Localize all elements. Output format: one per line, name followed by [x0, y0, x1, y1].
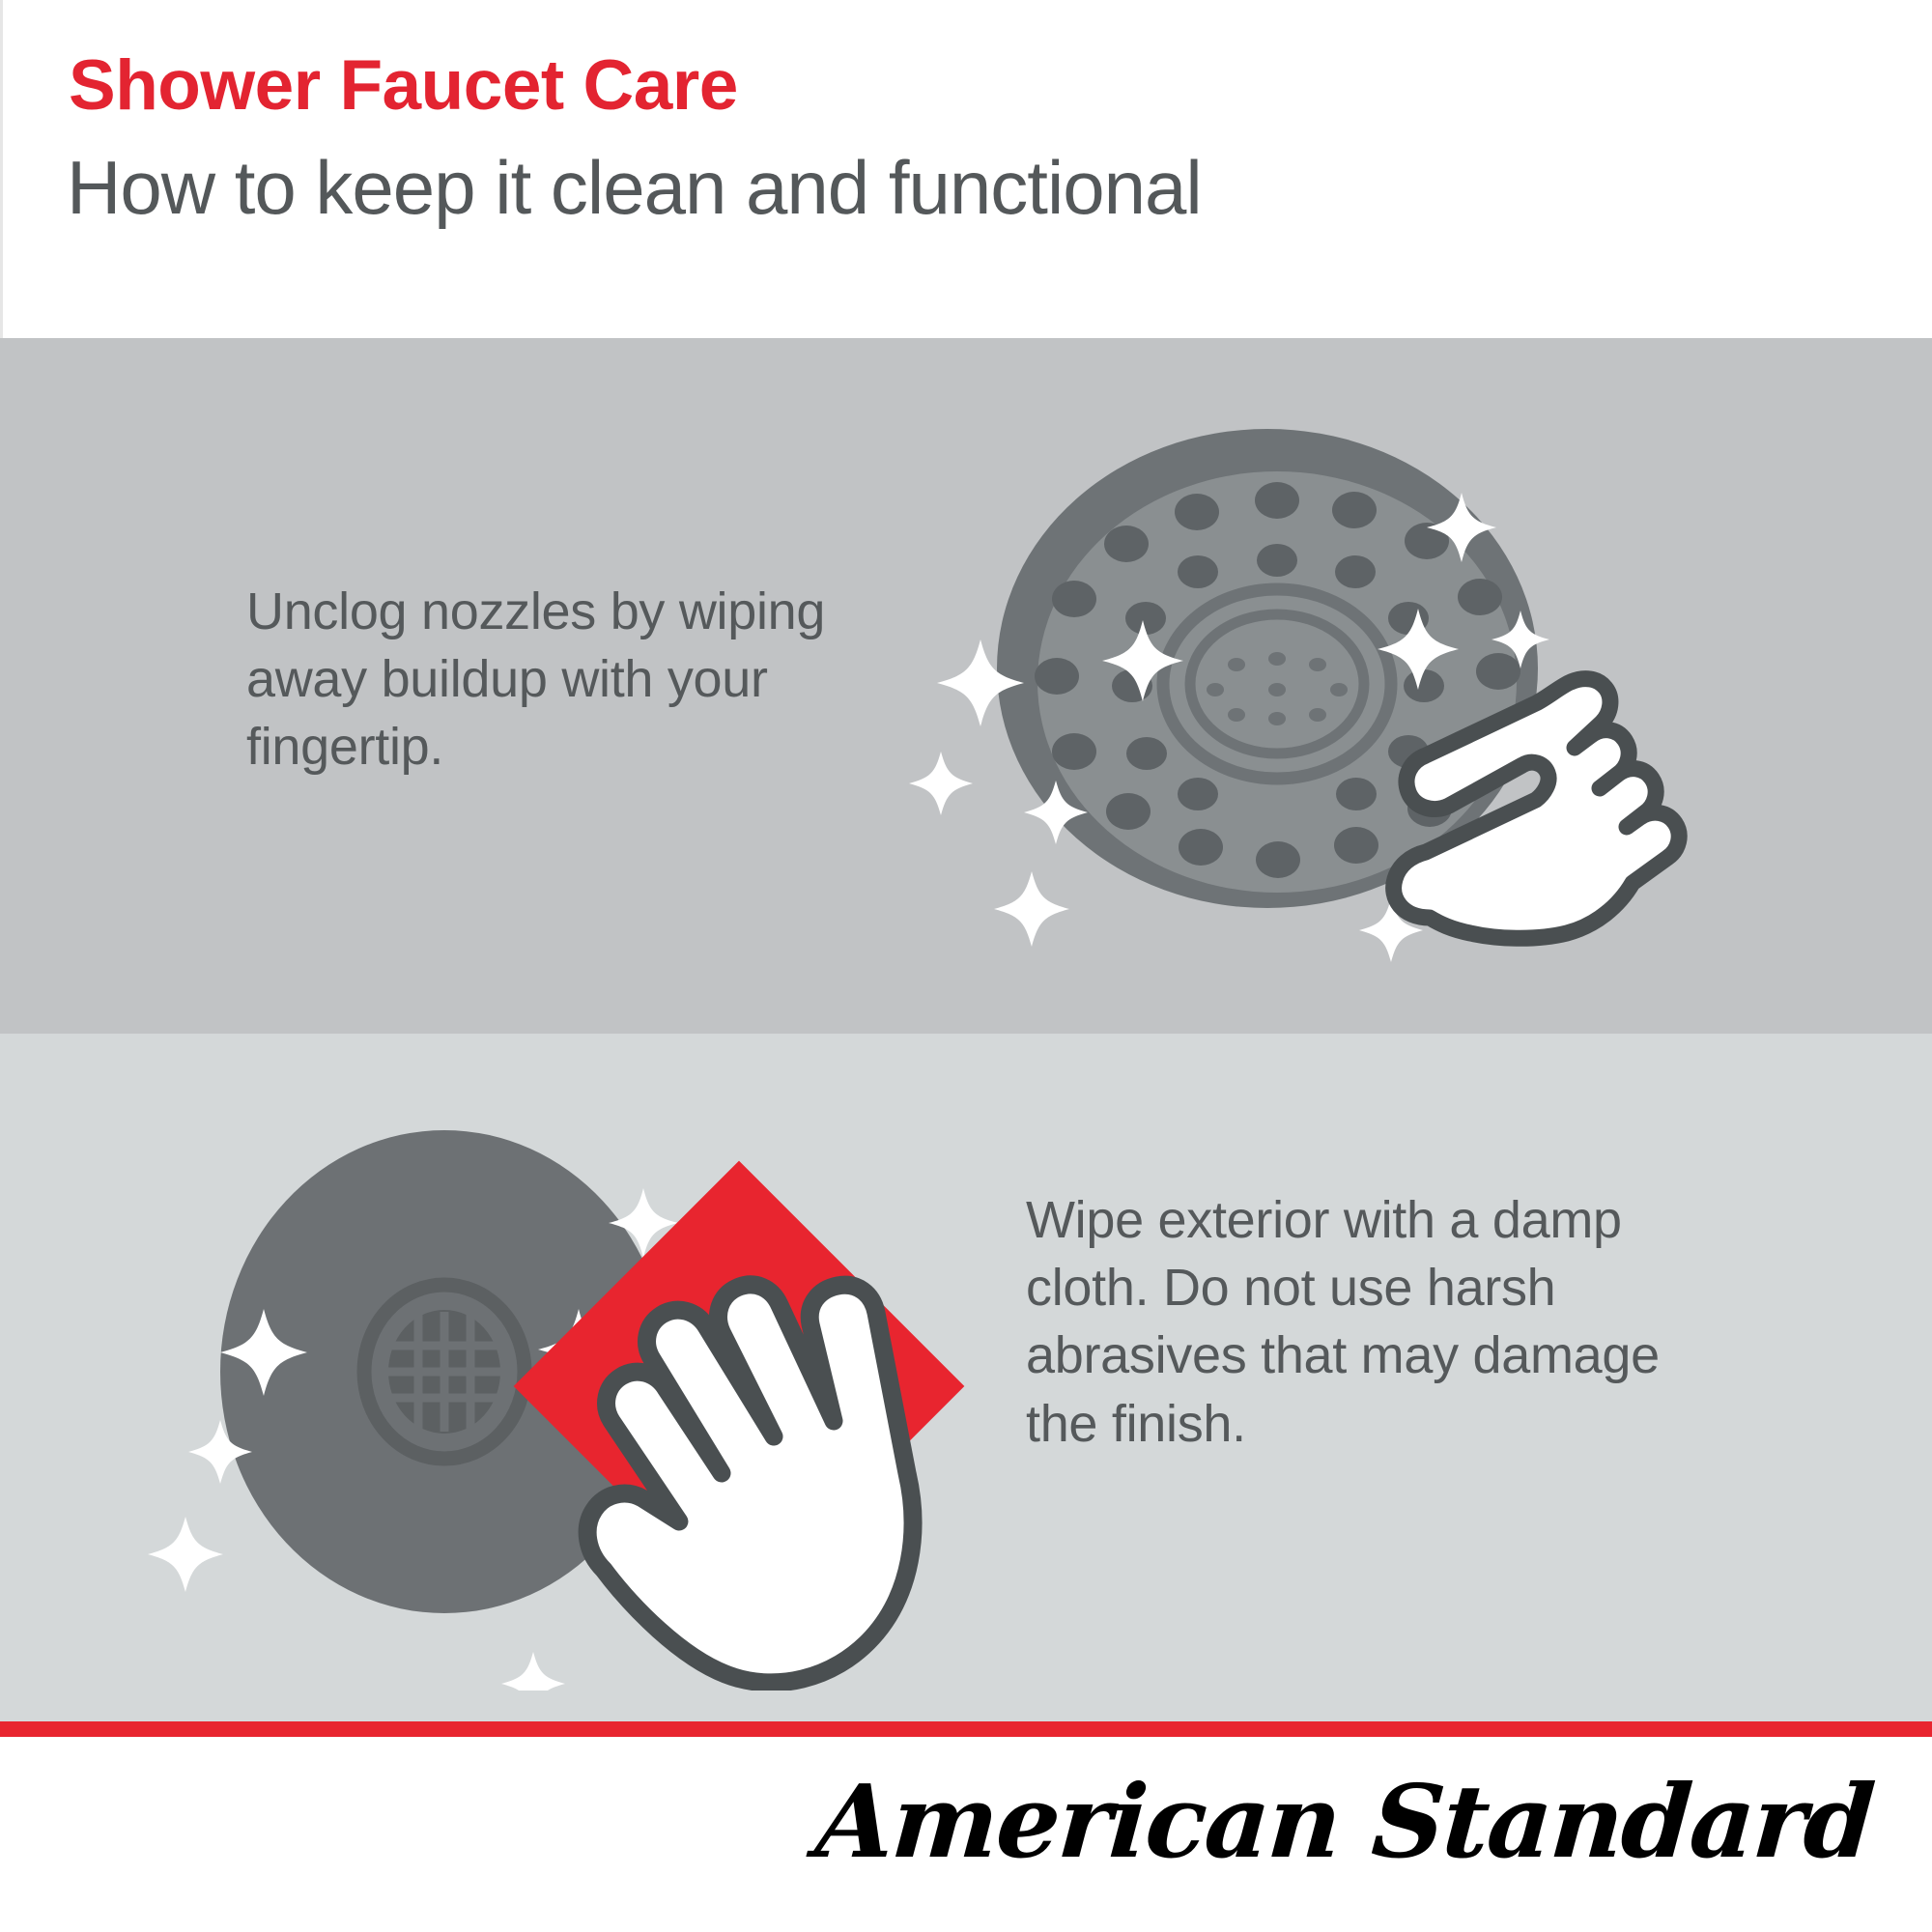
- page-title: Shower Faucet Care: [69, 50, 738, 121]
- sparkle-icon: [148, 1517, 223, 1592]
- panel-unclog-nozzles: Unclog nozzles by wiping away buildup wi…: [0, 338, 1932, 1034]
- divider-red-bar: [0, 1721, 1932, 1737]
- panel-wipe-exterior-text: Wipe exterior with a damp cloth. Do not …: [1026, 1186, 1741, 1458]
- sparkle-icon: [994, 871, 1069, 947]
- infographic-page: Shower Faucet Care How to keep it clean …: [0, 0, 1932, 1932]
- page-subtitle: How to keep it clean and functional: [67, 150, 1202, 225]
- showerhead-cloth-hand-illustration: [126, 1063, 976, 1690]
- panel-wipe-exterior: Wipe exterior with a damp cloth. Do not …: [0, 1034, 1932, 1721]
- header-band: Shower Faucet Care How to keep it clean …: [0, 0, 1932, 338]
- showerhead-pointing-finger-illustration: [908, 357, 1739, 995]
- brand-logo-american-standard: American Standard: [812, 1772, 1876, 1872]
- sparkle-icon: [909, 752, 973, 815]
- footer-band: American Standard: [0, 1737, 1932, 1932]
- sparkle-icon: [501, 1652, 565, 1690]
- panel-unclog-nozzles-text: Unclog nozzles by wiping away buildup wi…: [246, 578, 865, 781]
